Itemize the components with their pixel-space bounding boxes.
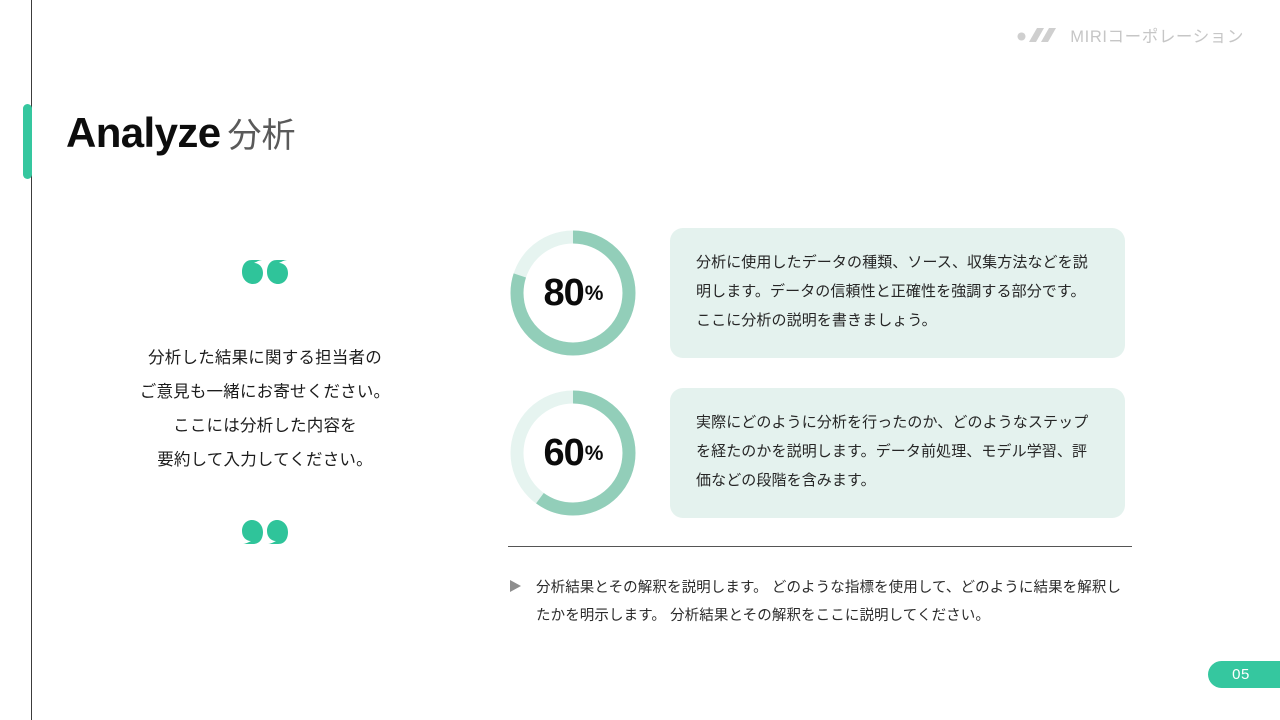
quote-close-icon xyxy=(110,518,420,557)
slide-canvas: MIRIコーポレーション Analyze 分析 分析した結果に関する担当者の ご… xyxy=(0,0,1280,720)
stat-row: 60 % 実際にどのように分析を行ったのか、どのようなステップを経たのかを説明し… xyxy=(508,388,1125,518)
miri-logo-mark-icon xyxy=(1017,26,1061,49)
page-number: 05 xyxy=(1232,667,1256,682)
triangle-right-icon xyxy=(508,579,522,598)
page-title: Analyze 分析 xyxy=(66,112,296,154)
donut-label: 60 % xyxy=(508,388,638,518)
title-accent-bar xyxy=(23,104,32,179)
donut-value: 80 xyxy=(544,274,584,312)
note-card: 実際にどのように分析を行ったのか、どのようなステップを経たのかを説明します。デー… xyxy=(670,388,1125,517)
brand-name: MIRIコーポレーション xyxy=(1070,29,1244,46)
donut-unit: % xyxy=(585,283,603,304)
note-card: 分析に使用したデータの種類、ソース、収集方法などを説明します。データの信頼性と正… xyxy=(670,228,1125,357)
quote-text: 分析した結果に関する担当者の ご意見も一緒にお寄せください。 ここには分析した内… xyxy=(110,341,420,478)
footnote-text: 分析結果とその解釈を説明します。 どのような指標を使用して、どのように結果を解釈… xyxy=(536,574,1134,631)
quote-block: 分析した結果に関する担当者の ご意見も一緒にお寄せください。 ここには分析した内… xyxy=(110,258,420,557)
stat-row: 80 % 分析に使用したデータの種類、ソース、収集方法などを説明します。データの… xyxy=(508,228,1125,358)
brand-logo: MIRIコーポレーション xyxy=(1017,26,1244,49)
quote-line: ご意見も一緒にお寄せください。 xyxy=(110,375,420,409)
footnote-row: 分析結果とその解釈を説明します。 どのような指標を使用して、どのように結果を解釈… xyxy=(508,574,1134,631)
section-divider xyxy=(508,546,1132,547)
donut-value: 60 xyxy=(544,434,584,472)
quote-line: 要約して入力してください。 xyxy=(110,443,420,477)
page-title-english: Analyze xyxy=(66,112,221,154)
donut-chart: 60 % xyxy=(508,388,638,518)
quote-line: 分析した結果に関する担当者の xyxy=(110,341,420,375)
donut-chart: 80 % xyxy=(508,228,638,358)
donut-unit: % xyxy=(585,443,603,464)
page-title-japanese: 分析 xyxy=(228,119,296,153)
page-badge: 05 xyxy=(1208,661,1280,688)
quote-open-icon xyxy=(110,258,420,297)
donut-label: 80 % xyxy=(508,228,638,358)
quote-line: ここには分析した内容を xyxy=(110,409,420,443)
